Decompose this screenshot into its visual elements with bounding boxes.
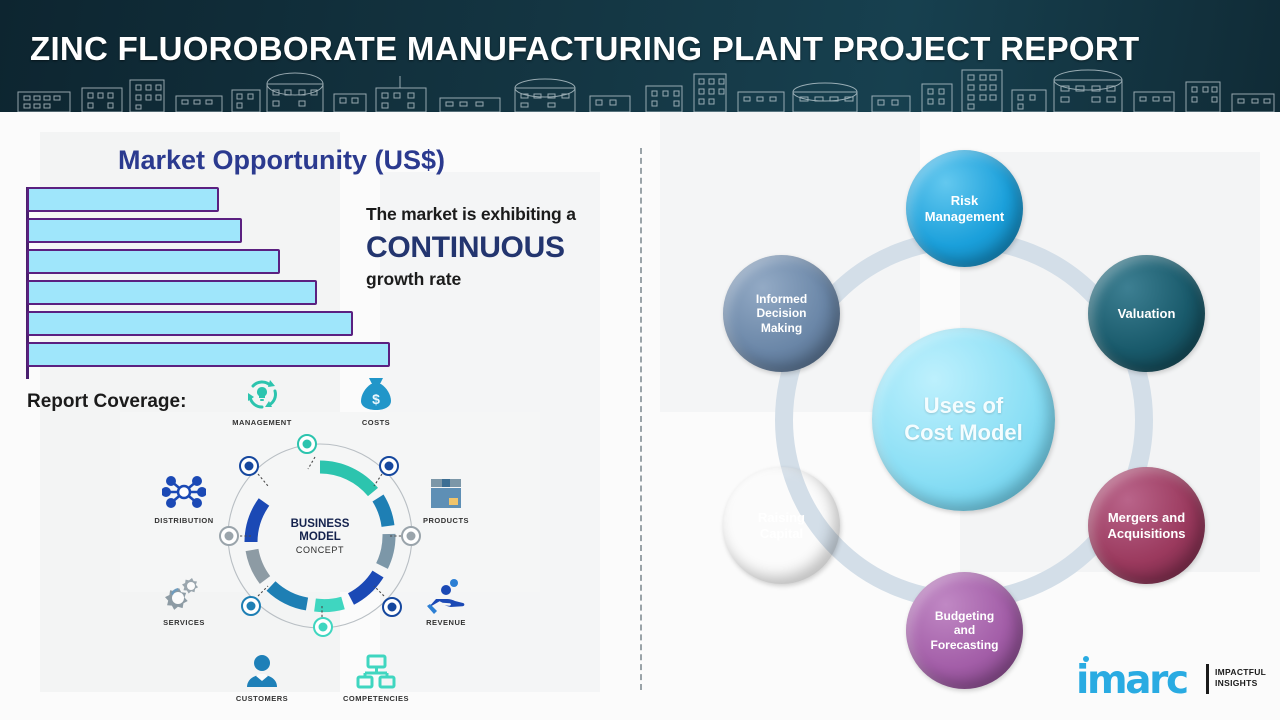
market-opportunity-bar-chart: [26, 187, 406, 379]
bar-row: [27, 249, 280, 274]
center-node-uses-of-cost-model[interactable]: Uses of Cost Model: [872, 328, 1055, 511]
node-label: Budgeting and Forecasting: [930, 609, 998, 653]
coverage-label: PRODUCTS: [400, 516, 492, 525]
bm-line-2: MODEL: [299, 531, 341, 543]
coverage-item-competencies[interactable]: COMPETENCIES: [330, 646, 422, 703]
callout-line-3: growth rate: [366, 269, 636, 290]
callout-line-1: The market is exhibiting a: [366, 204, 636, 225]
market-callout: The market is exhibiting a CONTINUOUS gr…: [366, 204, 636, 290]
org-chart-icon: [330, 646, 422, 690]
coverage-label: SERVICES: [138, 618, 230, 627]
center-node-label: Uses of Cost Model: [904, 393, 1023, 447]
node-label: Informed Decision Making: [756, 292, 807, 336]
money-bag-icon: $: [330, 370, 422, 414]
node-mergers-and-acquisitions[interactable]: Mergers and Acquisitions: [1088, 467, 1205, 584]
coverage-label: REVENUE: [400, 618, 492, 627]
callout-emphasis: CONTINUOUS: [366, 231, 636, 265]
bar-row: [27, 280, 317, 305]
bar-row: [27, 342, 390, 367]
coverage-item-revenue[interactable]: REVENUE: [400, 570, 492, 627]
coverage-label: COSTS: [330, 418, 422, 427]
tagline-line-1: IMPACTFUL: [1215, 667, 1266, 677]
recycle-lightbulb-icon: [216, 370, 308, 414]
node-risk-management[interactable]: Risk Management: [906, 150, 1023, 267]
slide-root: ZINC FLUOROBORATE MANUFACTURING PLANT PR…: [0, 0, 1280, 720]
node-raising-capital[interactable]: Raising Capital: [723, 467, 840, 584]
bm-subtitle: CONCEPT: [296, 545, 344, 555]
package-box-icon: [400, 468, 492, 512]
header-banner: ZINC FLUOROBORATE MANUFACTURING PLANT PR…: [0, 0, 1280, 112]
city-skyline-icon: [0, 66, 1280, 112]
coverage-item-management[interactable]: MANAGEMENT: [216, 370, 308, 427]
node-label: Mergers and Acquisitions: [1107, 510, 1185, 542]
coverage-label: MANAGEMENT: [216, 418, 308, 427]
coverage-label: DISTRIBUTION: [138, 516, 230, 525]
tagline-line-2: INSIGHTS: [1215, 678, 1258, 688]
page-title: ZINC FLUOROBORATE MANUFACTURING PLANT PR…: [30, 30, 1139, 68]
node-informed-decision-making[interactable]: Informed Decision Making: [723, 255, 840, 372]
coverage-item-products[interactable]: PRODUCTS: [400, 468, 492, 525]
node-label: Valuation: [1118, 306, 1176, 322]
logo-divider: [1206, 664, 1209, 694]
bar-row: [27, 218, 242, 243]
market-opportunity-title: Market Opportunity (US$): [118, 145, 445, 176]
left-panel: Market Opportunity (US$) The market is e…: [0, 112, 640, 720]
bar-row: [27, 187, 219, 212]
coverage-item-distribution[interactable]: DISTRIBUTION: [138, 468, 230, 525]
user-person-icon: [216, 646, 308, 690]
node-budgeting-and-forecasting[interactable]: Budgeting and Forecasting: [906, 572, 1023, 689]
coverage-item-costs[interactable]: $ COSTS: [330, 370, 422, 427]
logo-tagline: IMPACTFUL INSIGHTS: [1215, 667, 1266, 689]
coverage-item-customers[interactable]: CUSTOMERS: [216, 646, 308, 703]
svg-text:$: $: [372, 391, 380, 407]
coverage-label: CUSTOMERS: [216, 694, 308, 703]
business-model-center-label: BUSINESS MODEL CONCEPT: [254, 470, 386, 602]
hand-coins-icon: [400, 570, 492, 614]
bar-row: [27, 311, 353, 336]
gears-icon: [138, 570, 230, 614]
node-valuation[interactable]: Valuation: [1088, 255, 1205, 372]
report-coverage-diagram: BUSINESS MODEL CONCEPT: [130, 374, 510, 714]
logo-wordmark: imarc: [1076, 658, 1187, 703]
network-nodes-icon: [138, 468, 230, 512]
node-label: Risk Management: [925, 193, 1004, 225]
imarc-logo: imarc IMPACTFUL INSIGHTS: [1068, 654, 1263, 704]
node-label: Raising Capital: [758, 510, 805, 542]
coverage-item-services[interactable]: SERVICES: [138, 570, 230, 627]
bm-line-1: BUSINESS: [291, 518, 350, 530]
coverage-label: COMPETENCIES: [330, 694, 422, 703]
right-panel: Uses of Cost Model Risk Management Valua…: [640, 112, 1280, 720]
